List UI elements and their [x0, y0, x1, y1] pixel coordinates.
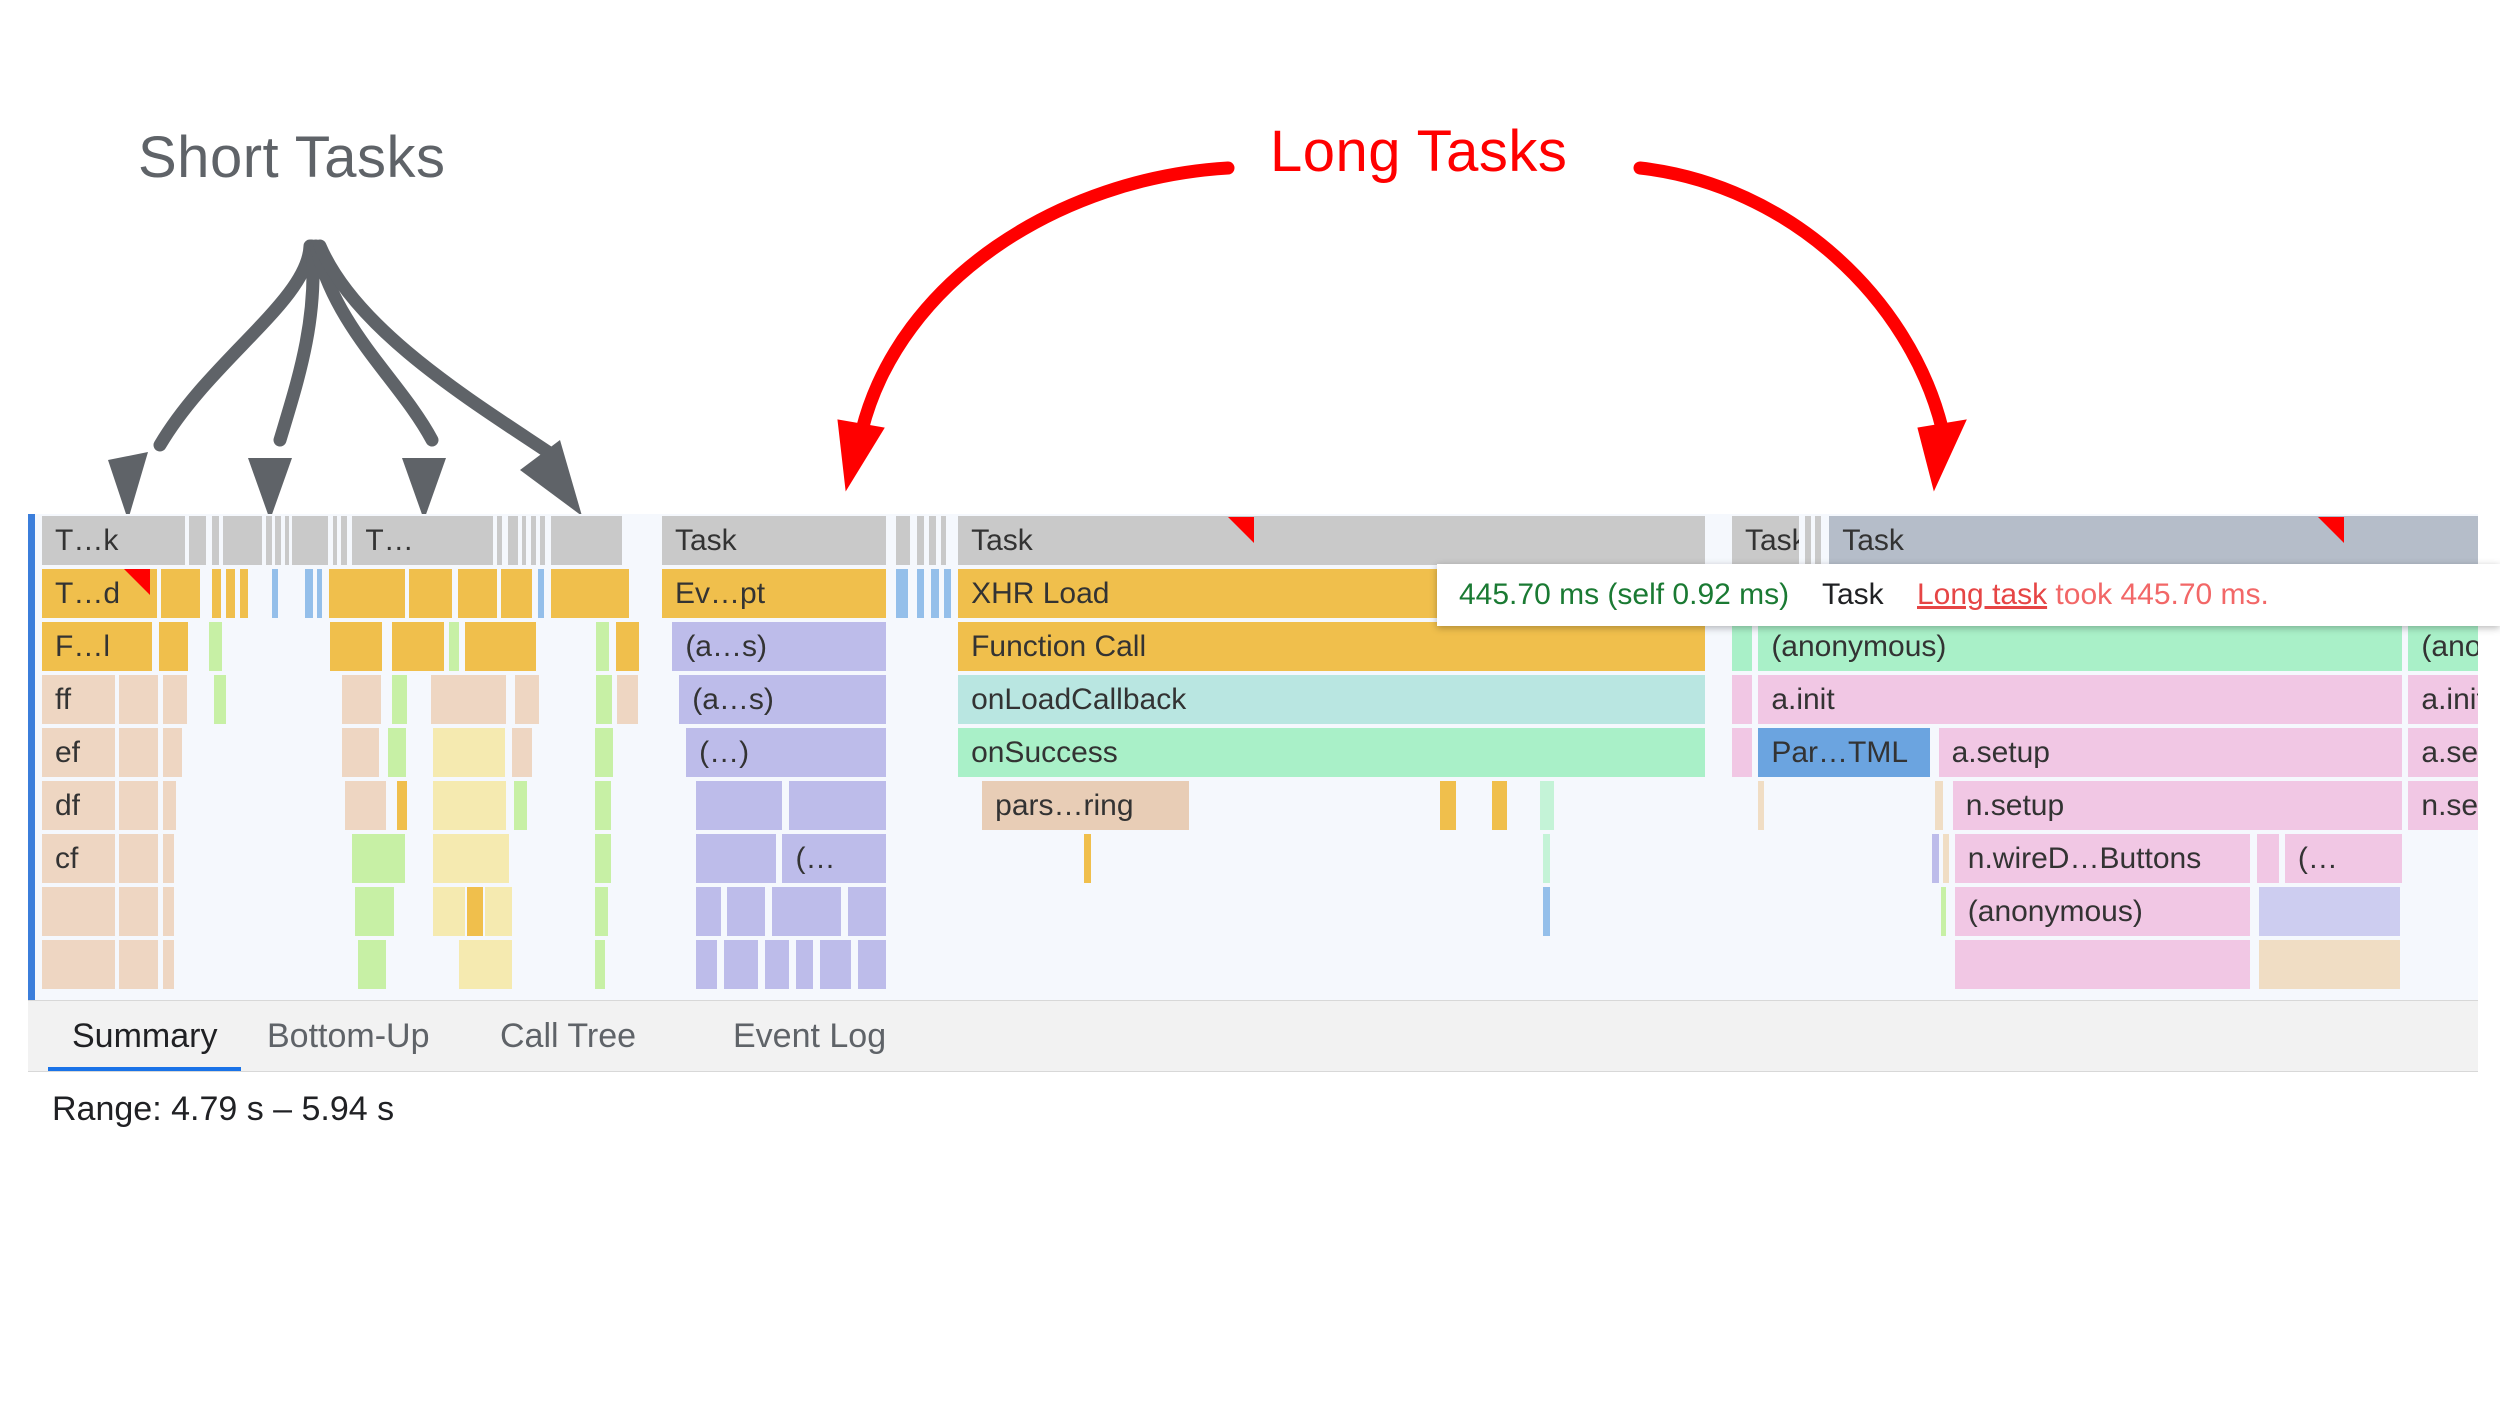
long-task-warning-marker-2	[1228, 517, 1254, 543]
flame-bar-sliver[interactable]	[515, 675, 538, 724]
flame-bar-sliver[interactable]	[240, 569, 248, 618]
flame-bar-sliver[interactable]	[595, 728, 613, 777]
flame-bar-sliver[interactable]	[433, 887, 464, 936]
flame-bar-sliver[interactable]	[449, 622, 459, 671]
flame-bar-sliver[interactable]	[409, 569, 452, 618]
flame-bar-sliver[interactable]	[551, 569, 629, 618]
tooltip-warning-text: took 445.70 ms.	[2047, 578, 2269, 611]
flame-bar-sliver[interactable]	[1955, 940, 2251, 989]
flame-bar-sliver[interactable]	[514, 781, 527, 830]
flame-bar-sliver[interactable]	[485, 887, 511, 936]
flame-bar-sliver[interactable]	[341, 516, 348, 565]
summary-range-text: Range: 4.79 s – 5.94 s	[52, 1090, 394, 1129]
flame-bar[interactable]: Function Call	[958, 622, 1705, 671]
flame-bar-sliver[interactable]	[796, 940, 813, 989]
flame-bar[interactable]: onLoadCallback	[958, 675, 1705, 724]
flame-bar-sliver[interactable]	[540, 516, 545, 565]
flame-bar[interactable]: Task	[1829, 516, 2478, 565]
flame-bar-sliver[interactable]	[119, 781, 158, 830]
details-tab-bar[interactable]: SummaryBottom-UpCall TreeEvent Log	[28, 1000, 2478, 1072]
flame-bar[interactable]: a.setup	[2408, 728, 2478, 777]
flame-bar-sliver[interactable]	[397, 781, 407, 830]
flame-bar[interactable]: cf	[42, 834, 115, 883]
flame-bar-sliver[interactable]	[538, 569, 545, 618]
flame-bar[interactable]: Task	[662, 516, 886, 565]
flame-bar-sliver[interactable]	[497, 516, 502, 565]
flame-bar-sliver[interactable]	[163, 940, 173, 989]
flame-bar-sliver[interactable]	[2259, 940, 2401, 989]
flame-bar-sliver[interactable]	[329, 569, 405, 618]
tab-summary[interactable]: Summary	[48, 1001, 241, 1071]
flame-bar-sliver[interactable]	[1758, 781, 1764, 830]
flame-bar-sliver[interactable]	[848, 887, 886, 936]
flame-bar-sliver[interactable]	[1805, 516, 1811, 565]
flame-bar[interactable]: (…	[782, 834, 885, 883]
tooltip-title: Task	[1822, 578, 1884, 611]
flame-bar-sliver[interactable]	[42, 940, 115, 989]
flame-bar-sliver[interactable]	[1492, 781, 1507, 830]
flame-bar-sliver[interactable]	[501, 569, 532, 618]
annotation-arrows	[0, 0, 2500, 520]
flame-bar-sliver[interactable]	[161, 569, 200, 618]
flame-bar[interactable]: (anonymous)	[1758, 622, 2402, 671]
tab-bottom-up[interactable]: Bottom-Up	[243, 1001, 454, 1071]
flame-bar-sliver[interactable]	[820, 940, 851, 989]
flame-bar-sliver[interactable]	[1941, 887, 1946, 936]
flame-bar[interactable]: Task	[958, 516, 1705, 565]
flame-bar-sliver[interactable]	[467, 887, 483, 936]
flame-bar[interactable]: n.setup	[1953, 781, 2403, 830]
flame-bar[interactable]: onSuccess	[958, 728, 1705, 777]
flame-bar-sliver[interactable]	[119, 834, 158, 883]
flame-bar[interactable]: F…l	[42, 622, 152, 671]
flame-bar-sliver[interactable]	[358, 940, 387, 989]
flame-bar-sliver[interactable]	[163, 887, 173, 936]
flame-bar-sliver[interactable]	[459, 940, 511, 989]
flame-bar-sliver[interactable]	[159, 622, 188, 671]
flame-bar-sliver[interactable]	[345, 781, 387, 830]
flame-bar-sliver[interactable]	[522, 516, 526, 565]
flame-bar-sliver[interactable]	[431, 675, 507, 724]
tooltip-duration: 445.70 ms (self 0.92 ms)	[1459, 578, 1789, 611]
flame-bar-sliver[interactable]	[696, 940, 717, 989]
flame-bar-sliver[interactable]	[727, 887, 765, 936]
long-tasks-annotation-label: Long Tasks	[1270, 118, 1567, 185]
flame-bar-sliver[interactable]	[1732, 728, 1752, 777]
flame-bar-sliver[interactable]	[596, 675, 612, 724]
long-task-tooltip: 445.70 ms (self 0.92 ms) Task Long task …	[1437, 564, 2500, 626]
flame-bar[interactable]: Task	[1732, 516, 1799, 565]
flame-bar-sliver[interactable]	[317, 569, 322, 618]
flame-bar-sliver[interactable]	[189, 516, 206, 565]
flame-bar-sliver[interactable]	[214, 675, 226, 724]
tooltip-long-task-link[interactable]: Long task	[1917, 578, 2047, 611]
flame-bar[interactable]: ff	[42, 675, 115, 724]
flame-bar-sliver[interactable]	[858, 940, 886, 989]
flame-bar-sliver[interactable]	[342, 728, 379, 777]
flame-bar-sliver[interactable]	[392, 622, 444, 671]
flame-bar-sliver[interactable]	[272, 569, 279, 618]
flame-bar-sliver[interactable]	[119, 940, 158, 989]
flame-bar-sliver[interactable]	[929, 516, 936, 565]
flame-bar-sliver[interactable]	[330, 622, 382, 671]
flame-bar-sliver[interactable]	[433, 781, 506, 830]
flame-bar-sliver[interactable]	[508, 516, 518, 565]
flame-bar-sliver[interactable]	[212, 569, 221, 618]
flame-chart-left-rail	[28, 514, 35, 1000]
flame-bar-sliver[interactable]	[1543, 887, 1550, 936]
flame-bar-sliver[interactable]	[765, 940, 789, 989]
flame-bar-sliver[interactable]	[596, 622, 609, 671]
flame-bar-sliver[interactable]	[226, 569, 235, 618]
flame-bar-sliver[interactable]	[212, 516, 220, 565]
flame-bar-sliver[interactable]	[275, 516, 280, 565]
flame-bar-sliver[interactable]	[1932, 834, 1938, 883]
flame-bar-sliver[interactable]	[789, 781, 885, 830]
flame-bar-sliver[interactable]	[392, 675, 408, 724]
flame-bar[interactable]: pars…ring	[982, 781, 1189, 830]
flame-bar-sliver[interactable]	[1084, 834, 1091, 883]
flame-bar-sliver[interactable]	[696, 887, 720, 936]
flame-bar-sliver[interactable]	[551, 516, 623, 565]
flame-bar[interactable]: n.wireD…Buttons	[1955, 834, 2251, 883]
flame-bar[interactable]: a.setup	[1939, 728, 2403, 777]
flame-bar-sliver[interactable]	[458, 569, 497, 618]
flame-bar-sliver[interactable]	[1732, 622, 1752, 671]
flame-bar-sliver[interactable]	[1440, 781, 1455, 830]
long-task-warning-marker-3	[2318, 517, 2344, 543]
flame-bar[interactable]: T…k	[42, 516, 185, 565]
flame-bar[interactable]: df	[42, 781, 115, 830]
flame-bar-sliver[interactable]	[512, 728, 533, 777]
flame-bar-sliver[interactable]	[1543, 834, 1550, 883]
flame-bar-sliver[interactable]	[209, 622, 222, 671]
flame-bar-sliver[interactable]	[292, 516, 327, 565]
flame-bar-sliver[interactable]	[941, 516, 946, 565]
flame-bar-sliver[interactable]	[163, 781, 176, 830]
flame-bar[interactable]: (…	[2285, 834, 2402, 883]
flame-bar-sliver[interactable]	[896, 569, 908, 618]
flame-bar-sliver[interactable]	[2259, 887, 2401, 936]
flame-bar-sliver[interactable]	[696, 834, 775, 883]
flame-bar-sliver[interactable]	[2257, 834, 2279, 883]
flame-bar-sliver[interactable]	[1540, 781, 1554, 830]
flame-bar[interactable]: (a…s)	[679, 675, 886, 724]
flame-bar-sliver[interactable]	[352, 834, 404, 883]
long-task-warning-marker-1	[124, 569, 150, 595]
flame-bar-sliver[interactable]	[266, 516, 271, 565]
flame-bar-sliver[interactable]	[1815, 516, 1821, 565]
flame-bar-sliver[interactable]	[896, 516, 910, 565]
flame-bar-sliver[interactable]	[355, 887, 394, 936]
flame-bar[interactable]: (a…s)	[672, 622, 885, 671]
flame-bar[interactable]: a.init	[1758, 675, 2402, 724]
flame-bar[interactable]: T…	[352, 516, 493, 565]
tab-call-tree[interactable]: Call Tree	[476, 1001, 660, 1071]
flame-bar-sliver[interactable]	[163, 728, 181, 777]
tab-event-log[interactable]: Event Log	[709, 1001, 910, 1071]
flame-bar-sliver[interactable]	[388, 728, 406, 777]
flame-bar-sliver[interactable]	[1935, 781, 1943, 830]
flame-bar[interactable]: Ev…pt	[662, 569, 886, 618]
flame-bar-sliver[interactable]	[617, 675, 638, 724]
long-tasks-arrow-right	[1640, 168, 1966, 490]
flame-bar-sliver[interactable]	[917, 569, 924, 618]
long-tasks-arrow-left	[838, 168, 1228, 490]
flame-bar-sliver[interactable]	[595, 887, 608, 936]
flame-bar-sliver[interactable]	[616, 622, 639, 671]
flame-bar-sliver[interactable]	[931, 569, 940, 618]
short-tasks-annotation-label: Short Tasks	[138, 124, 445, 191]
flame-bar-sliver[interactable]	[42, 887, 115, 936]
flame-bar-sliver[interactable]	[333, 516, 337, 565]
flame-bar-sliver[interactable]	[119, 887, 158, 936]
flame-bar-sliver[interactable]	[119, 728, 158, 777]
flame-bar-sliver[interactable]	[285, 516, 289, 565]
flame-bar-sliver[interactable]	[696, 781, 782, 830]
flame-bar-sliver[interactable]	[944, 569, 951, 618]
flame-bar-sliver[interactable]	[595, 834, 611, 883]
flame-bar-sliver[interactable]	[772, 887, 841, 936]
flame-bar-sliver[interactable]	[163, 834, 173, 883]
short-tasks-arrows	[108, 246, 582, 520]
flame-bar-sliver[interactable]	[917, 516, 924, 565]
flame-bar-sliver[interactable]	[595, 781, 611, 830]
flame-bar-sliver[interactable]	[531, 516, 536, 565]
flame-bar-sliver[interactable]	[724, 940, 758, 989]
flame-bar[interactable]: (…)	[686, 728, 886, 777]
flame-bar-sliver[interactable]	[223, 516, 262, 565]
flame-bar[interactable]: a.init	[2408, 675, 2478, 724]
flame-bar[interactable]: ef	[42, 728, 115, 777]
flame-bar-sliver[interactable]	[465, 622, 537, 671]
flame-bar-sliver[interactable]	[163, 675, 186, 724]
flame-bar[interactable]: (anonymous)	[1955, 887, 2251, 936]
flame-bar-sliver[interactable]	[1732, 675, 1752, 724]
flame-bar-sliver[interactable]	[342, 675, 381, 724]
flame-bar-sliver[interactable]	[1943, 834, 1949, 883]
flame-bar-sliver[interactable]	[595, 940, 605, 989]
flame-bar[interactable]: Par…TML	[1758, 728, 1930, 777]
flame-bar-sliver[interactable]	[119, 675, 158, 724]
flame-bar[interactable]: (anonymous)	[2408, 622, 2478, 671]
flame-bar-sliver[interactable]	[433, 728, 505, 777]
flame-bar[interactable]: n.setup	[2408, 781, 2478, 830]
flame-bar-sliver[interactable]	[305, 569, 313, 618]
flame-bar-sliver[interactable]	[433, 834, 509, 883]
